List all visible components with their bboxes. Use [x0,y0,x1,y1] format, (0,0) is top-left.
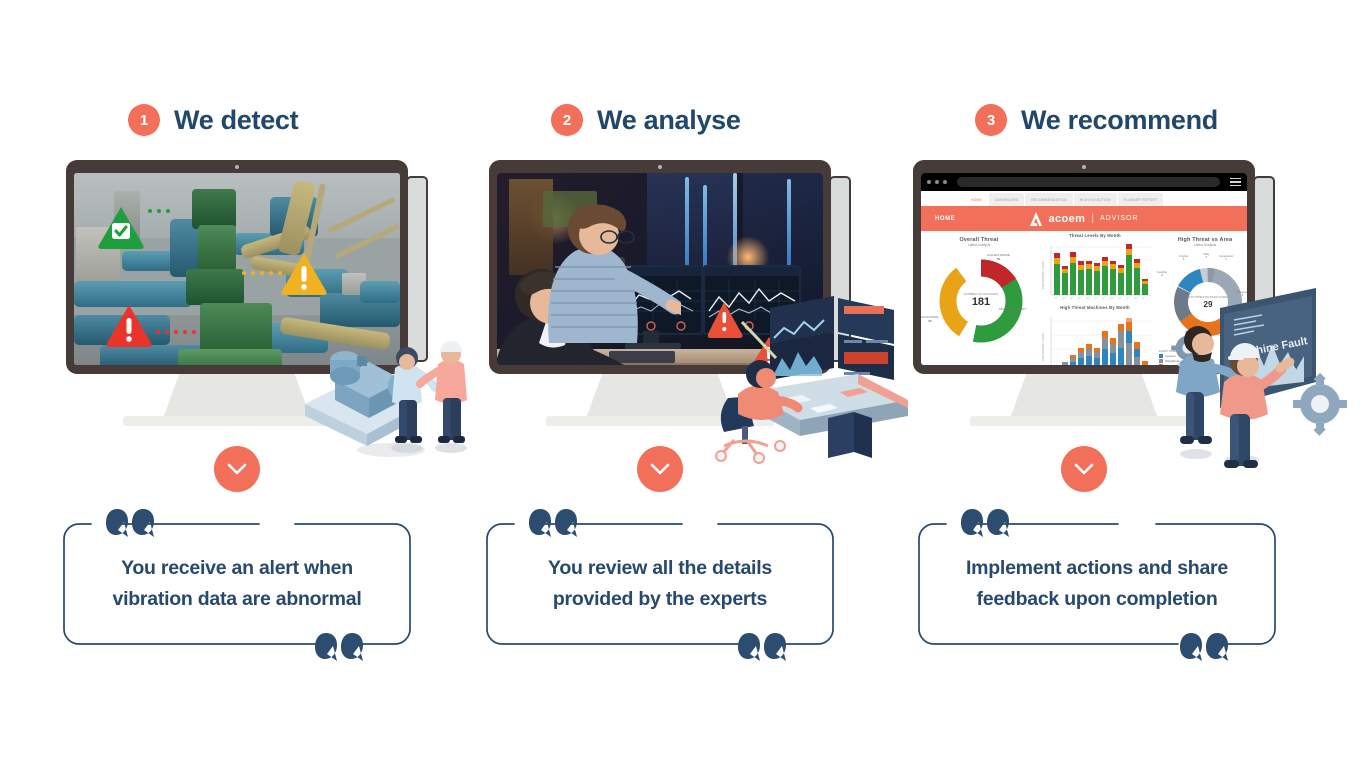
tab-recommendation[interactable]: RECOMMENDATION [1025,193,1073,206]
step-number-badge-1: 1 [128,104,160,136]
step-title-1: We detect [174,107,298,134]
legend-swatch [1159,359,1163,363]
step-column-1: 1 We detect [55,0,479,768]
quote-line-2b: provided by the experts [502,584,818,615]
threat-by-month-chart: OUR MACHINE COUNT [1039,241,1153,303]
exclamation-icon [279,251,329,297]
webcam-dot-3 [1082,165,1086,169]
area-label-compressor: Compressor1 [1219,255,1233,261]
quote-card-3: Implement actions and share feedback upo… [918,523,1276,645]
quote-text-2: You review all the details provided by t… [502,553,818,615]
team-reviewing-machine-fault-illustration: Machine Fault [1170,286,1360,468]
card-overall-threat: Overall Threat Latest Analysis [927,237,1031,247]
step-number-badge-3: 3 [975,104,1007,136]
card-high-threat-vs-area: High Threat vs Area Latest Analysis [1159,237,1247,247]
monitor-base-3 [970,416,1198,426]
svg-text:May: May [1086,298,1089,300]
svg-text:Mar: Mar [1070,298,1073,300]
workers-inspecting-pump-illustration [283,308,479,460]
tab-home[interactable]: HOME [965,193,988,206]
area-label-feedline: Feedline5 [1157,271,1167,277]
status-alarm-badge [104,303,154,349]
menu-icon[interactable] [1230,178,1241,186]
browser-dot [943,180,947,184]
quote-line-1a: You receive an alert when [79,553,395,584]
status-warning-badge [279,251,329,297]
infographic-canvas: 1 We detect [0,0,1366,768]
acoem-logo-icon [1030,212,1043,226]
svg-text:Sep: Sep [1118,298,1121,300]
step-number-1: 1 [140,112,148,129]
quote-text-3: Implement actions and share feedback upo… [934,553,1260,615]
dashboard-tabs: HOME DASHBOARD RECOMMENDATION HIGH NO AC… [921,191,1247,206]
webcam-dot-1 [235,165,239,169]
area-label-utility: Utility1 [1203,253,1209,259]
card-high-threat-by-month: High Threat Machines By Month [1039,305,1151,310]
standing-expert [531,197,681,347]
brand-separator: | [1091,213,1094,224]
browser-dot [935,180,939,184]
dashboard-header: HOME acoem | ADVISOR [921,206,1247,231]
quote-text-1: You receive an alert when vibration data… [79,553,395,615]
brand-product: ADVISOR [1100,215,1139,222]
card-threat-by-month: Threat Levels By Month [1039,233,1151,238]
donut-center-label: NUMBER OF MACHINES [964,292,999,296]
brand-name: acoem [1049,213,1086,225]
card-subtitle-overall-threat: Latest Analysis [927,243,1031,247]
y-axis-label: OUR MACHINE COUNT [1041,260,1045,289]
step-arrow-button-1[interactable] [214,446,260,492]
chevron-down-icon [1074,463,1094,475]
donut-label-ok: OK/NORMAL96 [921,315,939,323]
donut-center-value: 181 [972,296,990,308]
legend-swatch [1159,364,1163,365]
tab-high-no-action[interactable]: HIGH NO ACTION [1074,193,1117,206]
area-label-crusher: Crusher4 [1179,255,1188,261]
step-title-3: We recommend [1021,107,1218,134]
status-ok-badge [96,205,146,251]
step-heading-3: 3 We recommend [975,104,1218,136]
high-threat-by-month-chart: OUR MACHINE COUNT [1039,313,1153,365]
svg-text:Jun: Jun [1094,298,1097,300]
donut-label-moderate: MODERATE/ALERT56 [999,307,1026,315]
quote-line-2a: You review all the details [502,553,818,584]
quote-card-2: You review all the details provided by t… [486,523,834,645]
tab-dashboard[interactable]: DASHBOARD [989,193,1024,206]
step-number-3: 3 [987,112,995,129]
alarm-dot-trail [156,330,196,334]
quote-open-icon [529,508,577,538]
ok-dot-trail [148,209,170,213]
warning-dot-trail [242,271,282,275]
svg-text:Feb: Feb [1062,298,1065,300]
step-column-2: 2 We analyse [478,0,902,768]
browser-chrome [921,173,1247,191]
svg-text:Nov: Nov [1134,298,1137,300]
check-icon [96,205,146,251]
quote-line-1b: vibration data are abnormal [79,584,395,615]
quote-line-3a: Implement actions and share [934,553,1260,584]
step-arrow-button-2[interactable] [637,446,683,492]
brand-lockup: acoem | ADVISOR [1030,212,1139,226]
quote-card-1: You receive an alert when vibration data… [63,523,411,645]
webcam-dot-2 [658,165,662,169]
tab-planner-report[interactable]: PLANNER REPORT [1118,193,1164,206]
header-home-label: HOME [935,216,955,222]
quote-close-icon [1180,632,1228,662]
browser-dot [927,180,931,184]
svg-text:Apr: Apr [1078,297,1081,300]
overall-threat-donut: 181 NUMBER OF MACHINES [935,255,1027,347]
quote-open-icon [961,508,1009,538]
step-title-2: We analyse [597,107,741,134]
step-number-badge-2: 2 [551,104,583,136]
svg-text:Oct: Oct [1126,297,1129,300]
step-arrow-button-3[interactable] [1061,446,1107,492]
quote-close-icon [738,632,786,662]
quote-open-icon [106,508,154,538]
svg-text:Aug: Aug [1110,297,1113,300]
step-number-2: 2 [563,112,571,129]
svg-text:Dec: Dec [1142,298,1145,300]
svg-text:Jan: Jan [1054,298,1057,300]
chevron-down-icon [650,463,670,475]
card-title-threat-by-month: Threat Levels By Month [1039,233,1151,238]
step-column-3: 3 We recommend H [902,0,1326,768]
step-heading-2: 2 We analyse [551,104,741,136]
chevron-down-icon [227,463,247,475]
y-axis-label: OUR MACHINE COUNT [1041,332,1045,361]
card-subtitle-high-threat-vs-area: Latest Analysis [1159,243,1247,247]
card-title-high-threat-by-month: High Threat Machines By Month [1039,305,1151,310]
quote-line-3b: feedback upon completion [934,584,1260,615]
address-bar[interactable] [957,177,1220,187]
quote-close-icon [315,632,363,662]
legend-swatch [1159,354,1163,358]
step-heading-1: 1 We detect [128,104,298,136]
analyst-at-desk-illustration [708,296,908,468]
donut-label-high: HIGH/EXTREME29 [987,253,1010,261]
exclamation-icon [104,303,154,349]
svg-text:Jul: Jul [1102,298,1105,300]
